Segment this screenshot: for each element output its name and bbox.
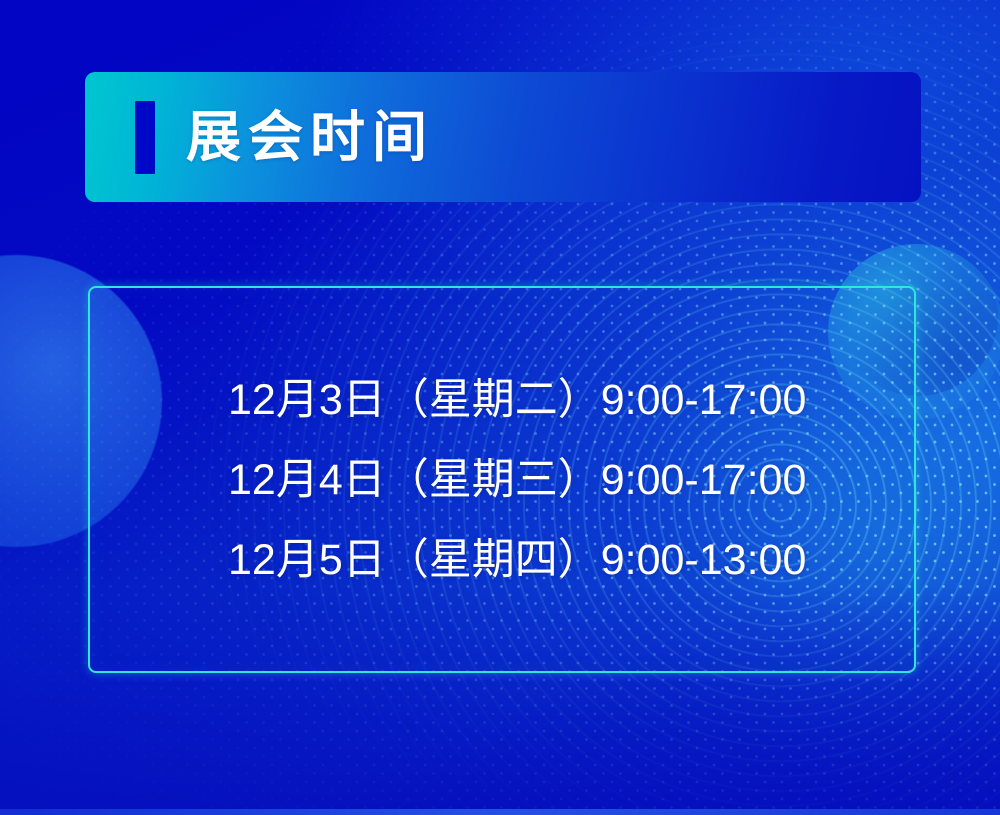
header-accent-bar bbox=[135, 101, 155, 174]
poster-canvas: 展会时间 12月3日（星期二）9:00-17:00 12月4日（星期三）9:00… bbox=[0, 0, 1000, 815]
list-item: 12月5日（星期四）9:00-13:00 bbox=[228, 520, 914, 600]
list-item: 12月4日（星期三）9:00-17:00 bbox=[228, 440, 914, 520]
list-item: 12月3日（星期二）9:00-17:00 bbox=[228, 360, 914, 440]
schedule-frame: 12月3日（星期二）9:00-17:00 12月4日（星期三）9:00-17:0… bbox=[88, 286, 916, 673]
schedule-list: 12月3日（星期二）9:00-17:00 12月4日（星期三）9:00-17:0… bbox=[90, 360, 914, 600]
page-title: 展会时间 bbox=[186, 110, 434, 165]
bottom-edge-strip bbox=[0, 809, 1000, 815]
section-header-banner: 展会时间 bbox=[85, 72, 921, 202]
